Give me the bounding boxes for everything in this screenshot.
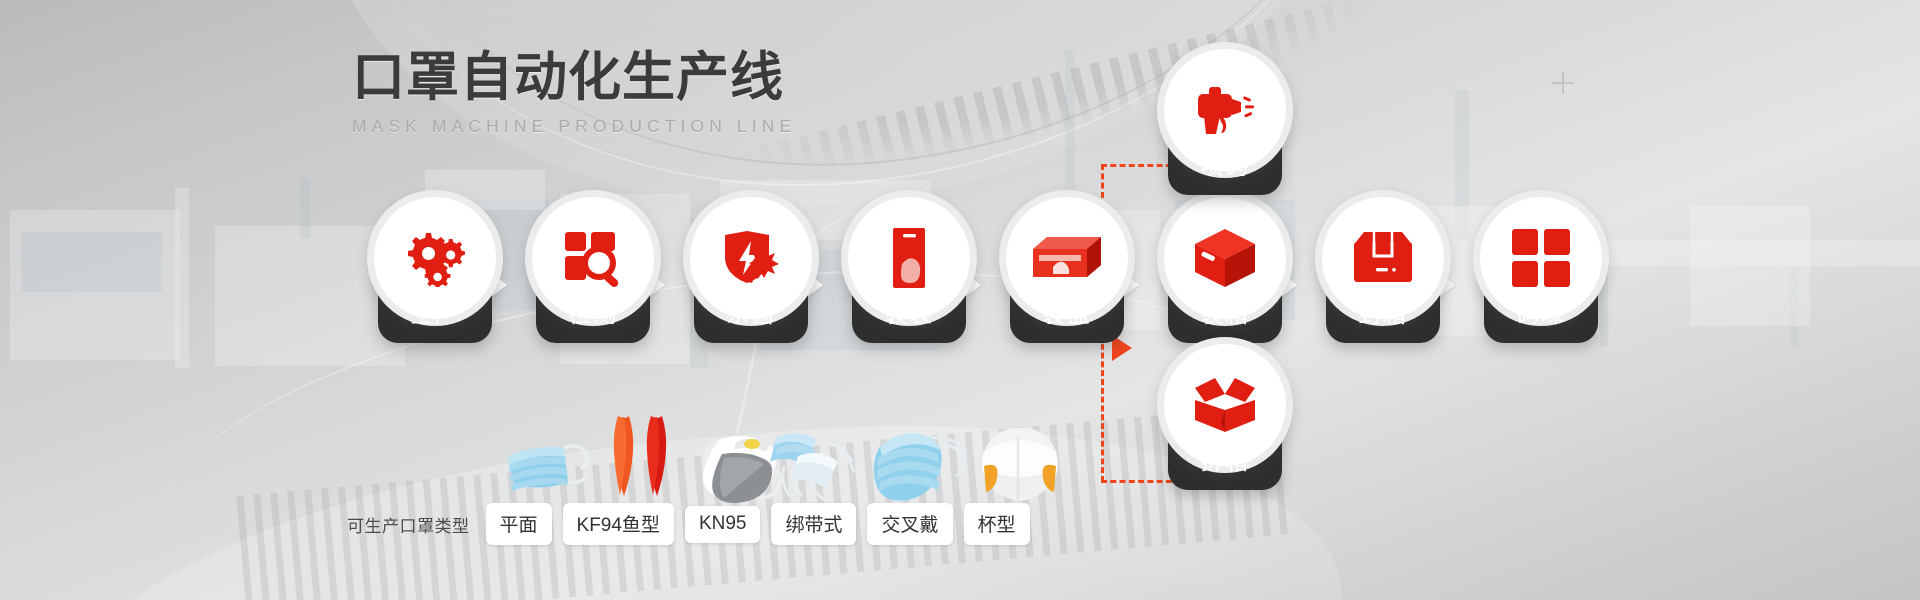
banner-root: 口罩自动化生产线 MASK MACHINE PRODUCTION LINE <box>0 0 1920 600</box>
step-label: 装箱 <box>1168 295 1282 329</box>
palletizing-grid-icon <box>1511 228 1571 288</box>
flow-step-zhuang-dai[interactable]: 装袋 <box>852 211 966 343</box>
mask-type-tag-cross[interactable]: 交叉戴 <box>867 503 952 545</box>
flow-step-jian-ce[interactable]: 检测 <box>536 211 650 343</box>
step-label: 杀菌 <box>694 295 808 329</box>
mask-sample-kf94-fish <box>604 412 680 498</box>
step-label: 检测 <box>536 295 650 329</box>
mask-type-tag-kf94[interactable]: KF94鱼型 <box>563 503 674 545</box>
mask-type-tag-cup[interactable]: 杯型 <box>964 503 1030 545</box>
step-label: 装盒 <box>1010 295 1124 329</box>
flow-step-zhuang-he[interactable]: 装盒 <box>1010 211 1124 343</box>
step-label: 拆箱 <box>1168 442 1282 476</box>
flow-step-ma-duo[interactable]: 码垛 <box>1484 211 1598 343</box>
mask-type-tag-kn95[interactable]: KN95 <box>685 506 761 543</box>
mask-sample-cross-wear <box>866 420 976 502</box>
step-label: 码垛 <box>1484 295 1598 329</box>
step-label: 生产 <box>378 295 492 329</box>
mask-sample-cup <box>974 424 1066 502</box>
step-label: 喷码 <box>1168 147 1282 181</box>
flow-step-sha-jun[interactable]: 杀菌 <box>694 211 808 343</box>
sealed-carton-icon <box>1350 230 1416 286</box>
carton-boxing-icon <box>1031 233 1103 283</box>
mask-type-label: 可生产口罩类型 <box>347 512 470 537</box>
gears-icon <box>404 229 466 287</box>
flow-branch-step-pen-ma[interactable]: 喷码 <box>1168 63 1282 195</box>
mask-sample-tie-on <box>770 426 866 500</box>
magnifier-inspection-icon <box>562 228 624 288</box>
open-box-icon <box>1191 376 1259 434</box>
mask-type-tag-tie-on[interactable]: 绑带式 <box>771 503 856 545</box>
inkjet-coder-gun-icon <box>1192 82 1258 138</box>
closed-case-icon <box>1193 227 1257 289</box>
mask-type-tag-flat[interactable]: 平面 <box>486 503 552 545</box>
step-label: 装袋 <box>852 295 966 329</box>
mask-type-row: 可生产口罩类型 平面 KF94鱼型 KN95 绑带式 交叉戴 杯型 <box>347 503 1030 545</box>
shield-sterilize-icon <box>721 229 781 287</box>
flow-step-feng-xiang[interactable]: 封箱 <box>1326 211 1440 343</box>
step-label: 封箱 <box>1326 295 1440 329</box>
flow-branch-step-chai-xiang[interactable]: 拆箱 <box>1168 358 1282 490</box>
flow-step-zhuang-xiang[interactable]: 装箱 <box>1168 211 1282 343</box>
mask-sample-flat-surgical <box>500 430 596 500</box>
bagging-pouch-icon <box>886 226 932 290</box>
flow-step-sheng-chan[interactable]: 生产 <box>378 211 492 343</box>
